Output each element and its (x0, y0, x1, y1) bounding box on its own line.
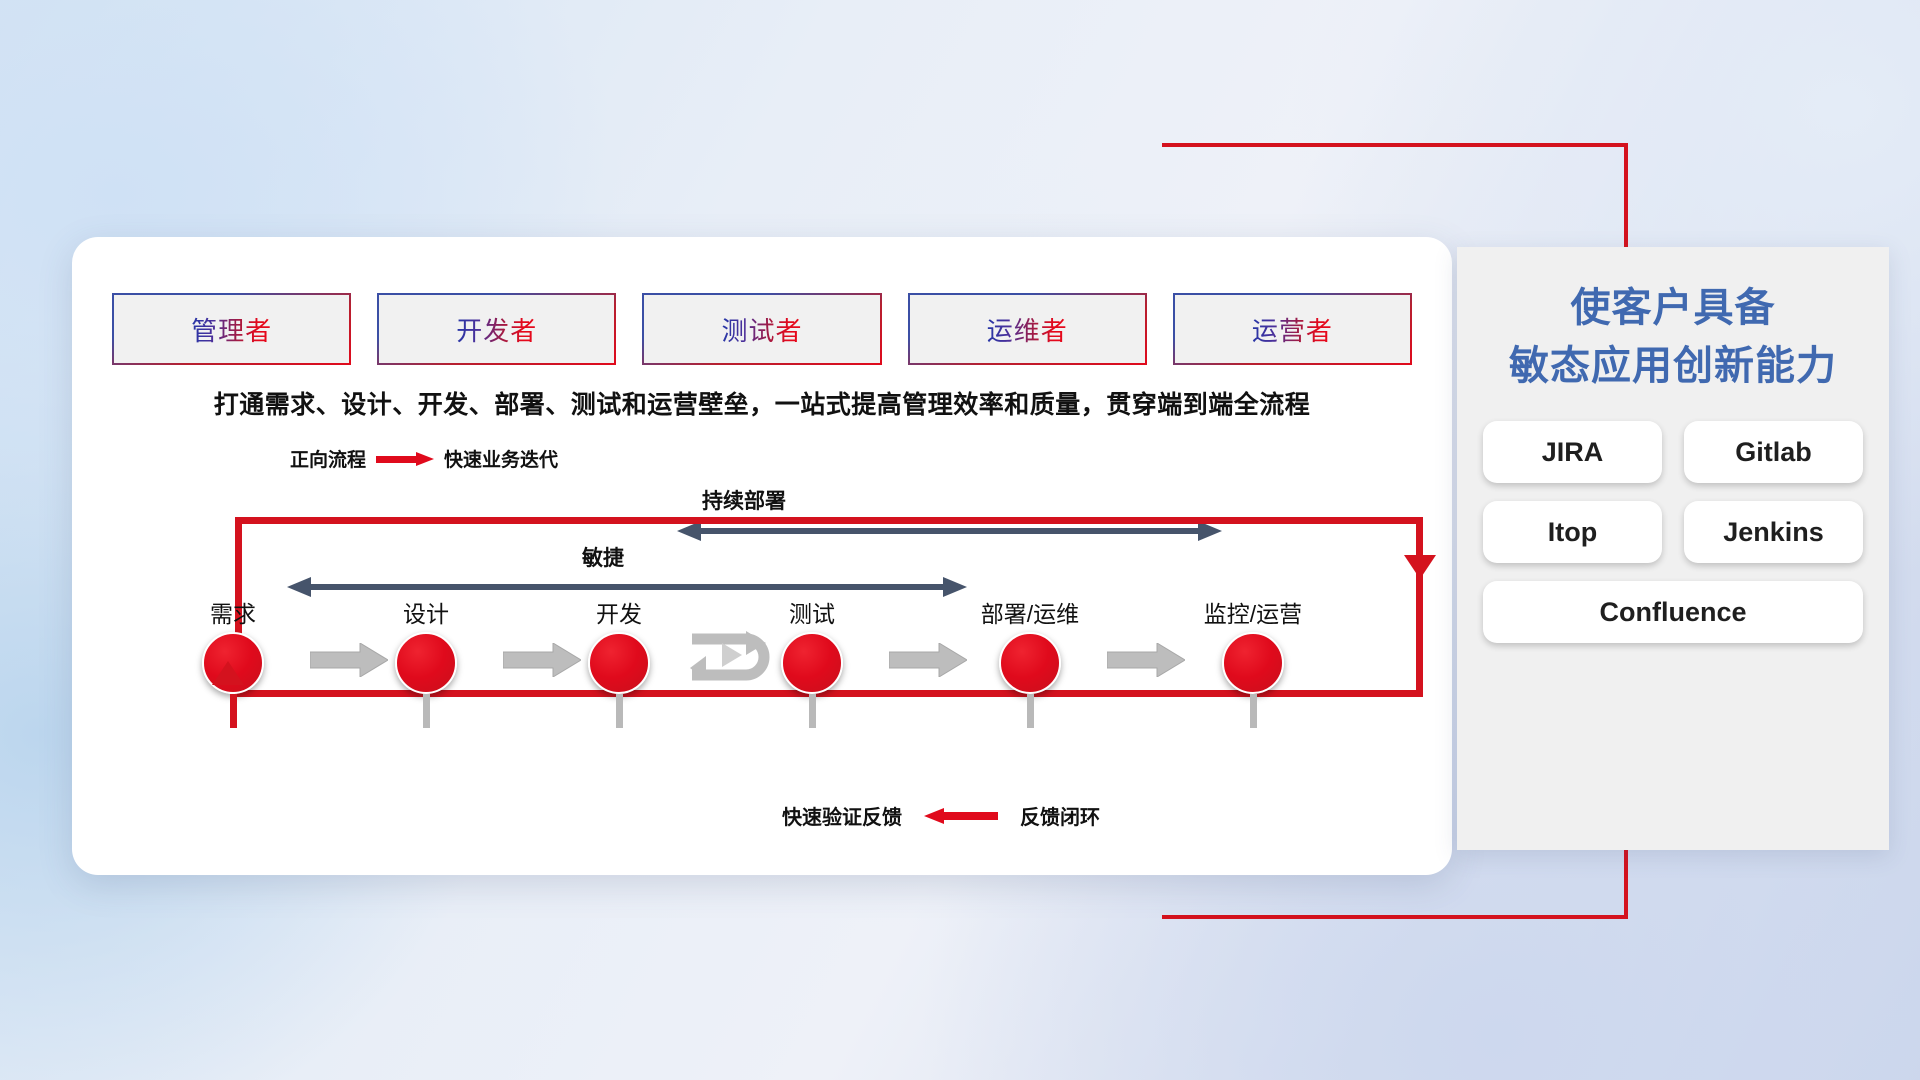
pipeline-node-label: 监控/运营 (1168, 595, 1338, 629)
pipeline-node-label: 部署/运维 (950, 595, 1110, 629)
red-loop-arrow-down-icon (1404, 555, 1436, 579)
role-chip-tester[interactable]: 测试者 (642, 293, 881, 365)
pipeline-node-dot (395, 632, 457, 694)
pipeline-node-label: 设计 (371, 595, 481, 629)
red-arrow-left-icon (924, 808, 998, 824)
pipeline-node-monitor-operations[interactable]: 监控/运营 (1168, 595, 1338, 728)
main-white-card: 管理者 开发者 测试者 运维者 运营者 打通需求、设计、开发、部署、测试和运营壁… (72, 237, 1452, 875)
role-chip-manager[interactable]: 管理者 (112, 293, 351, 365)
roles-row: 管理者 开发者 测试者 运维者 运营者 (112, 293, 1412, 365)
tool-chip-confluence[interactable]: Confluence (1483, 581, 1863, 643)
role-label: 运维者 (987, 311, 1068, 348)
legend-forward-to-label: 快速业务迭代 (444, 445, 558, 472)
pipeline-node-dot (588, 632, 650, 694)
tools-grid: JIRA Gitlab Itop Jenkins Confluence (1483, 421, 1863, 643)
pipeline-node-stem (230, 694, 237, 728)
red-loop-arrow-up-icon (212, 661, 244, 685)
pipeline-node-label: 测试 (757, 595, 867, 629)
role-chip-business-operator[interactable]: 运营者 (1173, 293, 1412, 365)
pipeline-node-stem (809, 694, 816, 728)
tool-chip-jira[interactable]: JIRA (1483, 421, 1662, 483)
pipeline-node-dot (1222, 632, 1284, 694)
sidebar-title-line-2: 敏态应用创新能力 (1483, 337, 1863, 395)
red-arrow-right-icon (376, 452, 434, 466)
pipeline-node-dot (781, 632, 843, 694)
pipeline-row: 需求 设计 开发 (118, 595, 1418, 735)
diagram-canvas: 管理者 开发者 测试者 运维者 运营者 打通需求、设计、开发、部署、测试和运营壁… (0, 0, 1920, 1080)
pipeline-node-dot (999, 632, 1061, 694)
pipeline-node-label: 开发 (564, 595, 674, 629)
role-chip-operator[interactable]: 运维者 (908, 293, 1147, 365)
tool-chip-jenkins[interactable]: Jenkins (1684, 501, 1863, 563)
continuous-deployment-label: 持续部署 (702, 485, 786, 515)
sidebar-title: 使客户具备 敏态应用创新能力 (1483, 279, 1863, 395)
pipeline-node-deploy-ops[interactable]: 部署/运维 (950, 595, 1110, 728)
pipeline-node-design[interactable]: 设计 (371, 595, 481, 728)
pipeline-node-stem (616, 694, 623, 728)
pipeline-node-development[interactable]: 开发 (564, 595, 674, 728)
role-label: 管理者 (191, 311, 272, 348)
pipeline-node-stem (1027, 694, 1034, 728)
sidebar-title-line-1: 使客户具备 (1483, 279, 1863, 337)
pipeline-node-stem (423, 694, 430, 728)
role-label: 运营者 (1252, 311, 1333, 348)
tool-chip-itop[interactable]: Itop (1483, 501, 1662, 563)
tools-sidebar: 使客户具备 敏态应用创新能力 JIRA Gitlab Itop Jenkins … (1457, 247, 1889, 850)
legend-forward-flow: 正向流程 快速业务迭代 (290, 445, 558, 472)
pipeline-node-label: 需求 (178, 595, 288, 629)
role-label: 开发者 (456, 311, 537, 348)
legend-feedback-loop: 快速验证反馈 反馈闭环 (782, 801, 1100, 830)
pipeline-node-stem (1250, 694, 1257, 728)
legend-forward-from-label: 正向流程 (290, 445, 366, 472)
role-chip-developer[interactable]: 开发者 (377, 293, 616, 365)
tool-chip-gitlab[interactable]: Gitlab (1684, 421, 1863, 483)
legend-feedback-from-label: 反馈闭环 (1020, 801, 1100, 830)
role-label: 测试者 (722, 311, 803, 348)
tagline-text: 打通需求、设计、开发、部署、测试和运营壁垒，一站式提高管理效率和质量，贯穿端到端… (72, 385, 1452, 421)
legend-feedback-to-label: 快速验证反馈 (782, 801, 902, 830)
pipeline-node-testing[interactable]: 测试 (757, 595, 867, 728)
